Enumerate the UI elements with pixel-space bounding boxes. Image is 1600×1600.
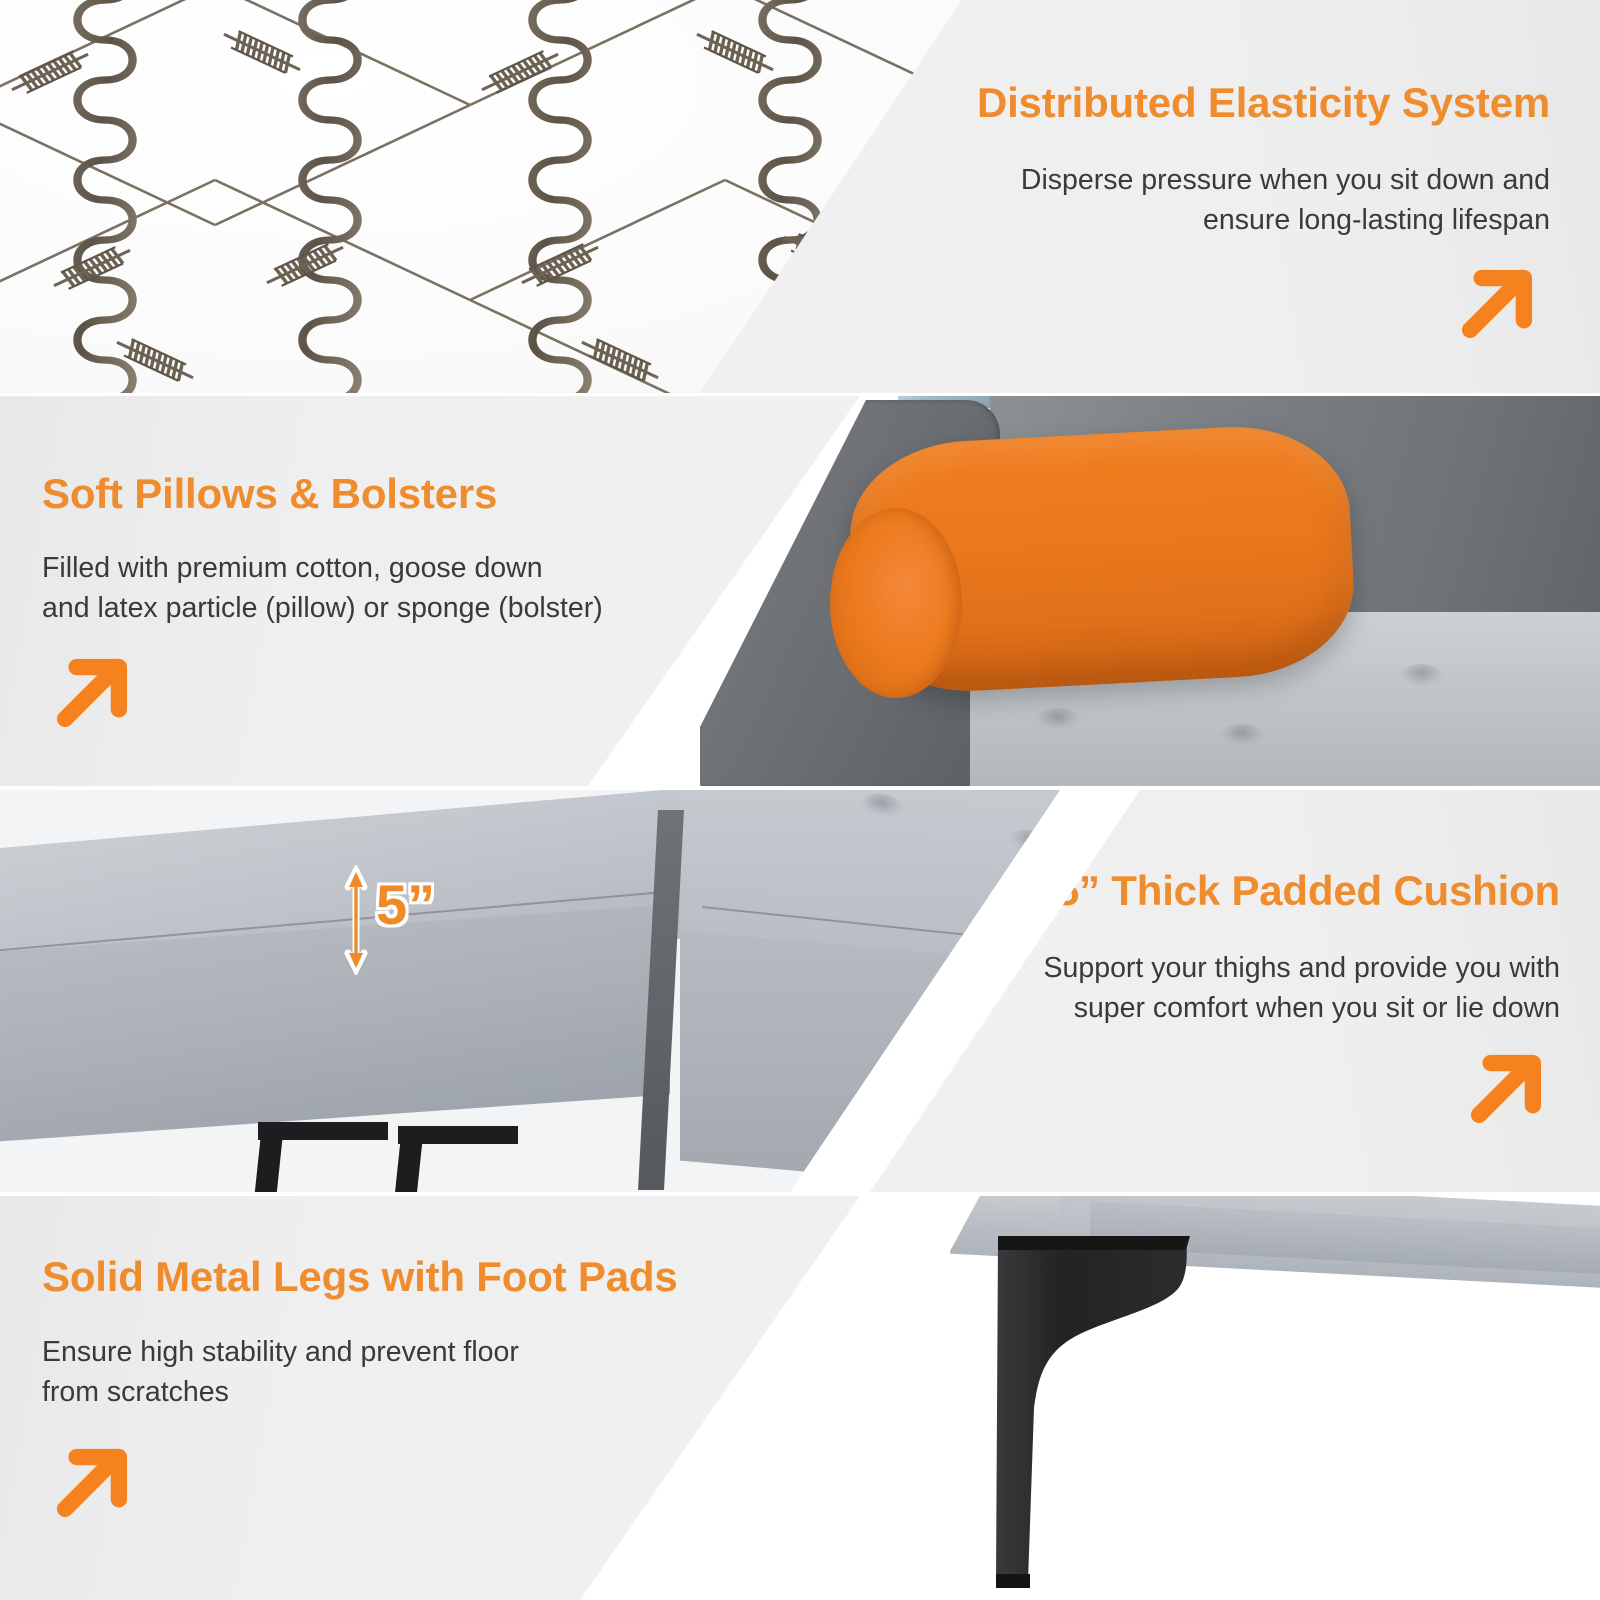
seat-tuft (1036, 708, 1080, 730)
grey-tufted-cushion-photo: 5” (0, 790, 1060, 1192)
feature-heading-2: Soft Pillows & Bolsters (42, 471, 497, 517)
double-headed-vertical-arrow-icon (344, 865, 368, 975)
black-metal-sofa-leg-photo (760, 1196, 1600, 1600)
feature-row-soft-pillows: Soft Pillows & Bolsters Filled with prem… (0, 396, 1600, 786)
feature-heading-4: Solid Metal Legs with Foot Pads (42, 1254, 678, 1300)
feature-heading-1: Distributed Elasticity System (977, 80, 1550, 126)
arrow-up-right-icon (44, 1434, 140, 1530)
leg-photo-canvas (760, 1196, 1600, 1600)
feature-infographic-poster: Distributed Elasticity System Disperse p… (0, 0, 1600, 1600)
arrow-up-right-icon (1458, 1040, 1554, 1136)
feature-row-thick-cushion: 5” 5” Thick Padded Cushion Support your … (0, 790, 1600, 1192)
arrow-up-right-icon (44, 644, 140, 740)
seat-tuft (1400, 664, 1444, 686)
feature-text-panel-4: Solid Metal Legs with Foot Pads Ensure h… (0, 1196, 860, 1600)
cushion-thickness-label: 5” (376, 872, 435, 937)
cushion-photo-canvas (0, 790, 1060, 1192)
seat-tuft (1220, 724, 1264, 746)
bolster-end-cap (830, 508, 962, 698)
sofa-leg-bracket (258, 1122, 388, 1140)
black-metal-leg (990, 1226, 1370, 1600)
feature-description-1: Disperse pressure when you sit down and … (910, 160, 1550, 241)
feature-row-distributed-elasticity: Distributed Elasticity System Disperse p… (0, 0, 1600, 393)
sofa-leg-bracket (398, 1126, 518, 1144)
feature-description-2: Filled with premium cotton, goose down a… (42, 548, 702, 629)
feature-row-metal-legs: Solid Metal Legs with Foot Pads Ensure h… (0, 1196, 1600, 1600)
arrow-up-right-icon (1449, 255, 1545, 351)
feature-heading-3: 5” Thick Padded Cushion (1056, 868, 1560, 914)
foot-pad (996, 1574, 1030, 1588)
cushion-tuft (1010, 827, 1054, 854)
feature-description-3: Support your thighs and provide you with… (950, 948, 1560, 1029)
text-panel-background-4: Solid Metal Legs with Foot Pads Ensure h… (0, 1196, 860, 1600)
cushion-tuft (860, 792, 904, 819)
feature-description-4: Ensure high stability and prevent floor … (42, 1332, 702, 1413)
